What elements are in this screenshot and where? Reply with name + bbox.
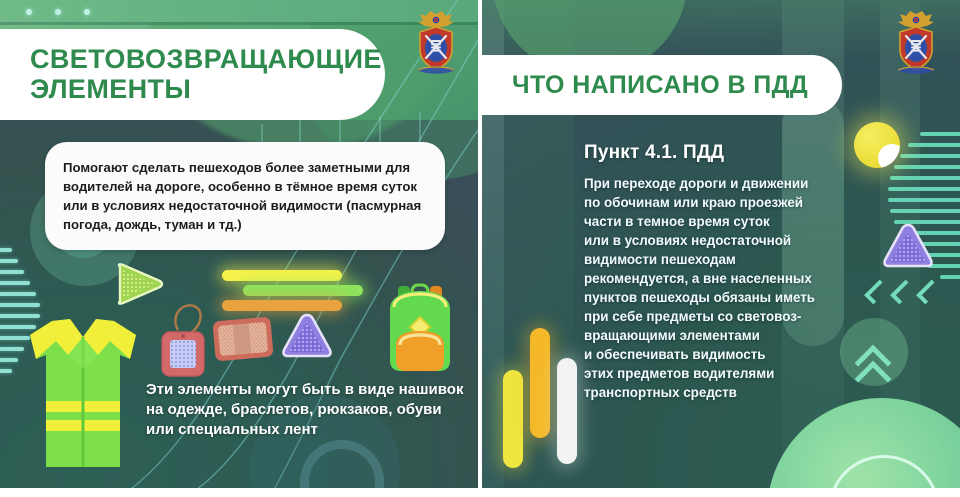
safety-vest-icon	[22, 315, 144, 475]
right-panel-body-line: При переходе дороги и движении	[584, 174, 884, 193]
glow-bar-orange-icon	[222, 300, 342, 311]
reflective-keytag-red-icon	[158, 300, 214, 380]
right-panel-body-line: вращающими элементами	[584, 326, 884, 345]
right-bottom-edge	[482, 488, 960, 497]
left-info-card: Помогают сделать пешеходов более заметны…	[45, 142, 445, 250]
right-panel-body-line: при себе предметы со световоз-	[584, 307, 884, 326]
left-title-pill: СВЕТОВОЗВРАЩАЮЩИЕ ЭЛЕМЕНТЫ	[0, 29, 385, 120]
right-panel-body-line: транспортных средств	[584, 383, 884, 402]
left-panel-title: СВЕТОВОЗВРАЩАЮЩИЕ ЭЛЕМЕНТЫ	[30, 45, 385, 103]
backpack-icon	[384, 283, 456, 375]
reflective-triangle-purple-icon	[281, 312, 333, 360]
reflective-triangle-purple-icon	[882, 222, 934, 270]
right-panel-body-line: пунктов пешеходы обязаны иметь	[584, 288, 884, 307]
right-panel-body-line: и обеспечивать видимость	[584, 345, 884, 364]
glow-bar-green-icon	[243, 285, 363, 296]
left-panel-caption: Эти элементы могут быть в виде нашивок н…	[146, 380, 466, 440]
infographic-stage: СВЕТОВОЗВРАЩАЮЩИЕ ЭЛЕМЕНТЫ Помогают сдел…	[0, 0, 960, 497]
right-panel-heading: Пункт 4.1. ПДД	[584, 142, 884, 164]
vertical-bar-yellow-icon	[503, 370, 523, 468]
right-panel-body-line: этих предметов водителями	[584, 364, 884, 383]
right-panel-body-line: видимости пешеходам	[584, 250, 884, 269]
right-panel-body-line: или в условиях недостаточной	[584, 231, 884, 250]
right-panel-body-line: рекомендуется, а вне населенных	[584, 269, 884, 288]
mvd-emblem-icon	[892, 8, 940, 78]
left-bottom-edge	[0, 488, 478, 497]
vertical-bar-orange-icon	[530, 328, 550, 438]
vertical-bar-white-icon	[557, 358, 577, 464]
right-panel-body-line: по обочинам или краю проезжей	[584, 193, 884, 212]
right-title-pill: ЧТО НАПИСАНО В ПДД	[482, 55, 842, 115]
right-panel-body: При переходе дороги и движениипо обочина…	[584, 174, 884, 402]
mvd-emblem-icon	[412, 8, 460, 78]
right-panel-body-line: части в темное время суток	[584, 212, 884, 231]
left-info-card-text: Помогают сделать пешеходов более заметны…	[63, 158, 427, 235]
reflective-patch-icon	[212, 315, 274, 363]
glow-bar-yellow-icon	[222, 270, 342, 281]
right-panel: ЧТО НАПИСАНО В ПДД Пункт 4.1. ПДД При пе…	[482, 0, 960, 497]
left-panel: СВЕТОВОЗВРАЩАЮЩИЕ ЭЛЕМЕНТЫ Помогают сдел…	[0, 0, 478, 497]
right-panel-title: ЧТО НАПИСАНО В ПДД	[512, 72, 808, 99]
